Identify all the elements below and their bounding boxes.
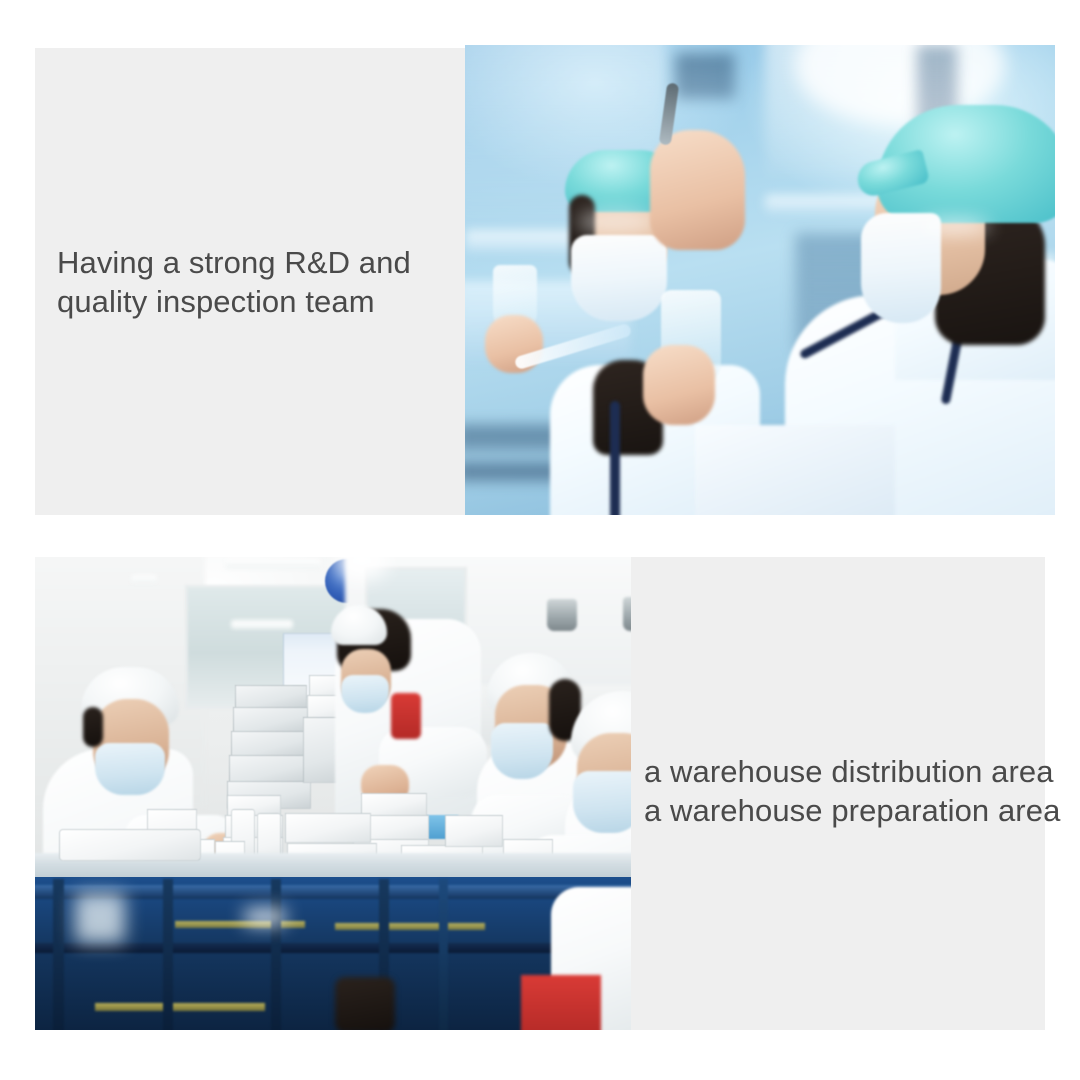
dark-floor-item xyxy=(335,977,395,1030)
lab-shelf-dark xyxy=(675,53,735,99)
row1-caption: Having a strong R&D andquality inspectio… xyxy=(57,243,411,322)
warehouse-packing-photo xyxy=(35,557,631,1030)
worker-1-hair xyxy=(83,707,103,747)
row2-caption-line-1: a warehouse distribution area xyxy=(644,754,1054,789)
ceiling-light-3 xyxy=(131,575,157,583)
ceiling-light-1 xyxy=(225,559,321,569)
worker-b-coat-lower xyxy=(695,425,895,515)
worker-4-mask xyxy=(573,771,631,833)
worker-b-hand-lower xyxy=(643,345,715,425)
table-rail-yellow-3 xyxy=(95,1003,265,1011)
worker-1-mask xyxy=(95,743,165,795)
paper-under-table-2 xyxy=(245,909,285,925)
row1-caption-line-1: Having a strong R&D and xyxy=(57,245,411,280)
steel-pot-1 xyxy=(547,599,577,631)
row1-caption-line-2: quality inspection team xyxy=(57,284,375,319)
worker-a-mask xyxy=(571,235,667,321)
table-leg-2 xyxy=(163,879,173,1030)
worker-3-mask xyxy=(491,723,553,779)
table-rail-mid xyxy=(35,943,631,953)
slide-canvas: Having a strong R&D andquality inspectio… xyxy=(0,0,1080,1080)
steel-pot-2 xyxy=(623,597,631,631)
table-rail-yellow-2 xyxy=(335,923,485,930)
box-stack-far-2 xyxy=(233,707,309,733)
worker-b-mask-strap xyxy=(920,220,990,232)
red-item-1 xyxy=(391,693,421,739)
box-front-2 xyxy=(285,813,371,843)
row2-caption-line-2: a warehouse preparation area xyxy=(644,793,1060,828)
lab-inspection-photo xyxy=(465,45,1055,515)
ceiling-light-2 xyxy=(231,620,293,629)
table-leg-1 xyxy=(53,879,64,1030)
box-stack-far-4 xyxy=(229,755,311,783)
worker-a-goggles xyxy=(577,210,657,234)
box-stack-far-1 xyxy=(235,685,307,709)
box-stack-far-3 xyxy=(231,731,311,757)
row2-caption: a warehouse distribution areaa warehouse… xyxy=(644,752,1060,831)
paper-under-table xyxy=(75,893,125,943)
red-floor-item xyxy=(521,975,601,1030)
table-rail-yellow-1 xyxy=(175,921,305,928)
box-front-4 xyxy=(445,815,503,847)
worker-a-coat-trim xyxy=(610,401,620,515)
table-leg-5 xyxy=(439,879,448,1030)
box-left-tray xyxy=(59,829,201,861)
worker-b-hand-raised xyxy=(650,130,745,250)
table-leg-3 xyxy=(271,879,281,1030)
